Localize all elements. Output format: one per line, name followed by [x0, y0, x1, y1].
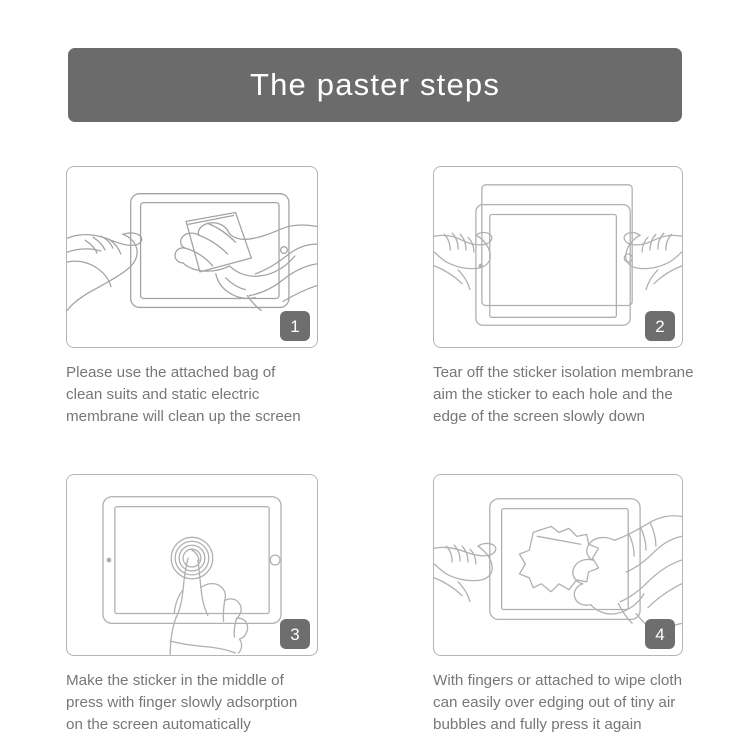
steps-row-bottom: 3 Make the sticker in the middle of pres… [0, 474, 750, 736]
step-item-3: 3 Make the sticker in the middle of pres… [0, 474, 375, 736]
step-3-caption: Make the sticker in the middle of press … [66, 670, 366, 736]
step-4-caption-line-3: bubbles and fully press it again [433, 714, 733, 736]
steps-row-gap [0, 428, 750, 474]
step-2-caption-line-3: edge of the screen slowly down [433, 406, 733, 428]
step-1-caption-line-3: membrane will clean up the screen [66, 406, 366, 428]
step-item-1: 1 Please use the attached bag of clean s… [0, 166, 375, 428]
step-3-caption-line-3: on the screen automatically [66, 714, 366, 736]
step-2-caption: Tear off the sticker isolation membrane … [433, 362, 733, 428]
header-banner: The paster steps [68, 48, 682, 122]
step-2-illustration-frame: 2 [433, 166, 683, 348]
page-title: The paster steps [250, 67, 500, 103]
step-2-caption-line-2: aim the sticker to each hole and the [433, 384, 733, 406]
step-2-caption-line-1: Tear off the sticker isolation membrane [433, 362, 733, 384]
steps-row-top: 1 Please use the attached bag of clean s… [0, 166, 750, 428]
step-3-illustration-frame: 3 [66, 474, 318, 656]
step-1-illustration-frame: 1 [66, 166, 318, 348]
step-item-2: 2 Tear off the sticker isolation membran… [375, 166, 750, 428]
steps-grid: 1 Please use the attached bag of clean s… [0, 166, 750, 736]
step-1-caption-line-2: clean suits and static electric [66, 384, 366, 406]
step-badge-1: 1 [280, 311, 310, 341]
step-3-caption-line-1: Make the sticker in the middle of [66, 670, 366, 692]
step-1-caption-line-1: Please use the attached bag of [66, 362, 366, 384]
step-item-4: 4 With fingers or attached to wipe cloth… [375, 474, 750, 736]
step-4-caption: With fingers or attached to wipe cloth c… [433, 670, 733, 736]
step-badge-4: 4 [645, 619, 675, 649]
step-1-caption: Please use the attached bag of clean sui… [66, 362, 366, 428]
step-3-caption-line-2: press with finger slowly adsorption [66, 692, 366, 714]
step-4-illustration-frame: 4 [433, 474, 683, 656]
step-4-caption-line-2: can easily over edging out of tiny air [433, 692, 733, 714]
step-badge-2: 2 [645, 311, 675, 341]
step-badge-3: 3 [280, 619, 310, 649]
step-4-caption-line-1: With fingers or attached to wipe cloth [433, 670, 733, 692]
